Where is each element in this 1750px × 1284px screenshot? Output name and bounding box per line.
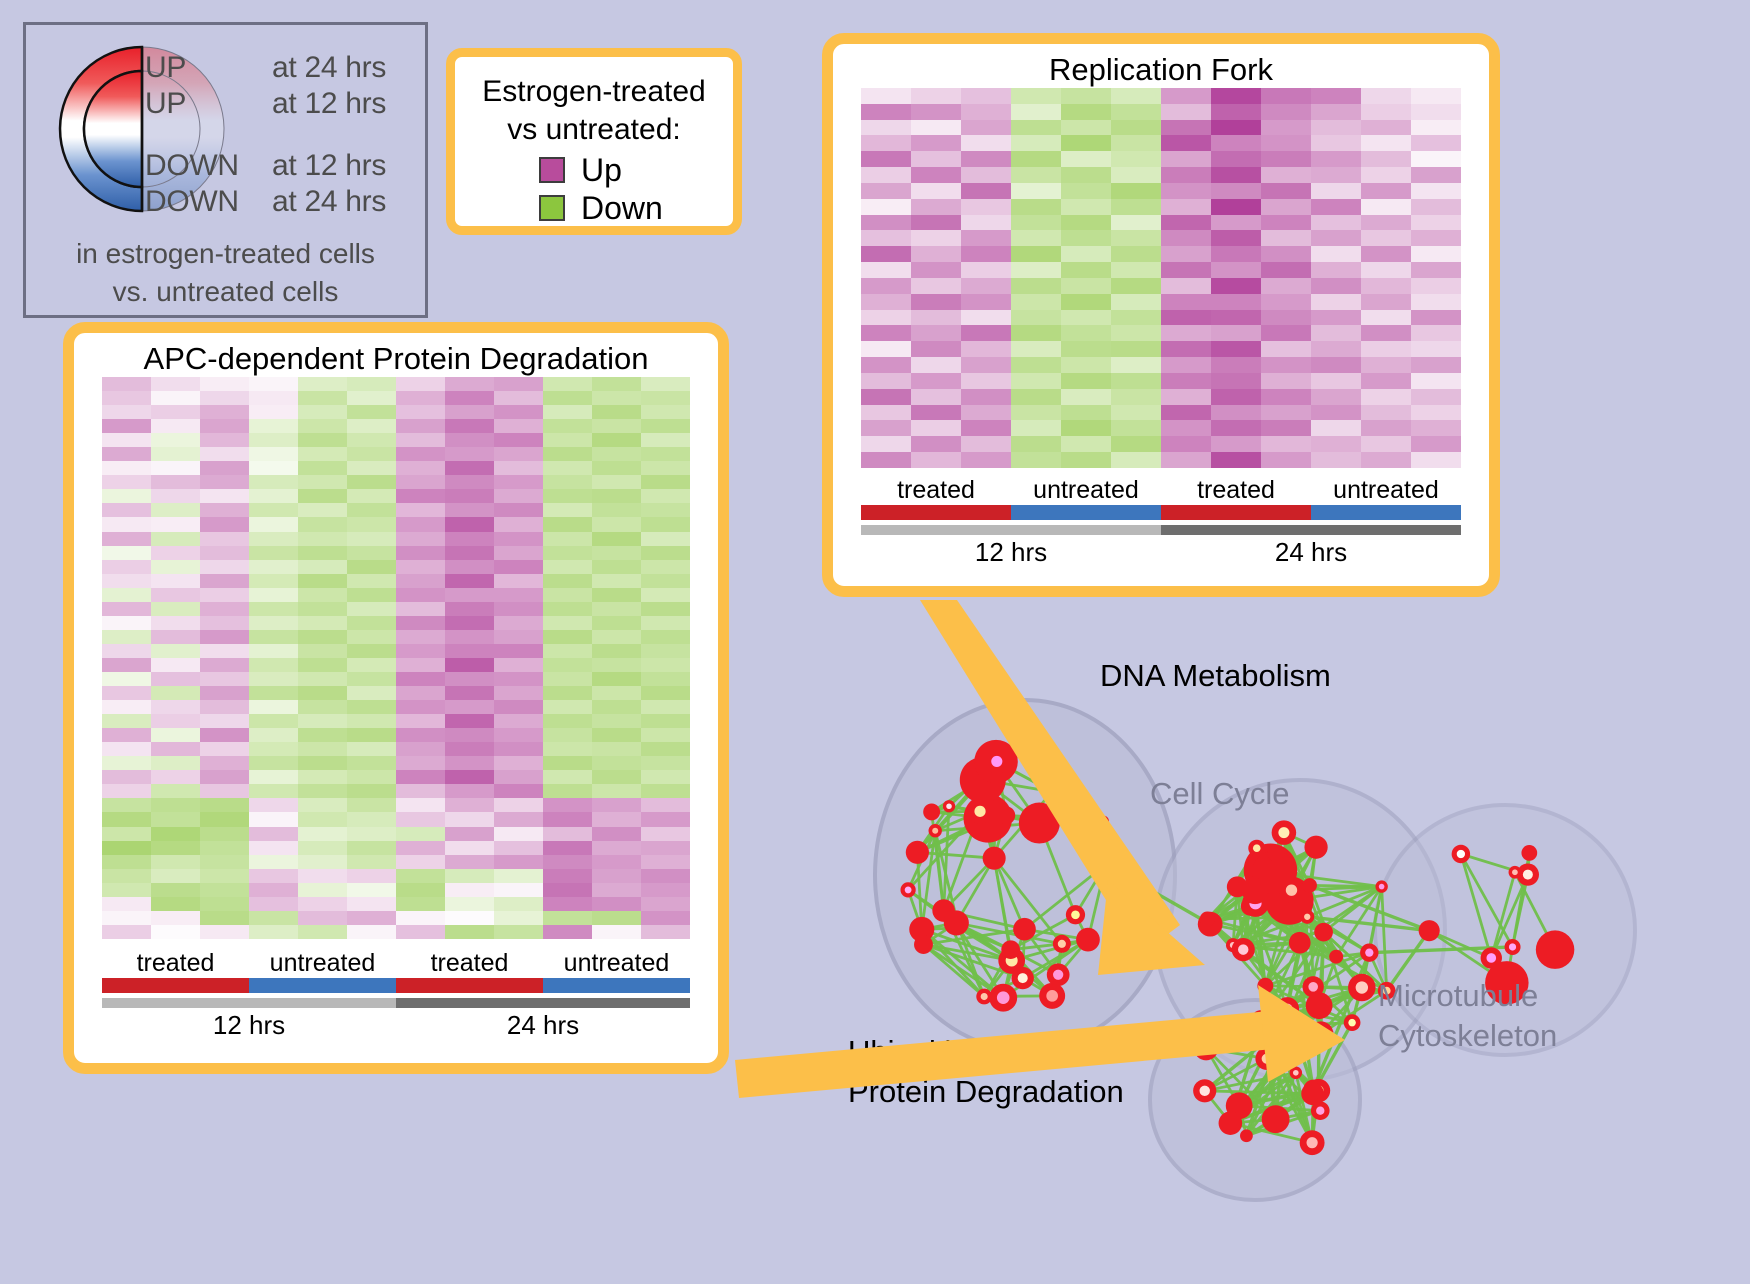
heat-cell: [151, 433, 200, 447]
heat-cell: [151, 812, 200, 826]
heat-cell: [249, 489, 298, 503]
graph-node: [1277, 1051, 1294, 1068]
heat-cell: [543, 855, 592, 869]
heat-cell: [543, 644, 592, 658]
heat-cell: [200, 841, 249, 855]
heat-cell: [1161, 199, 1211, 215]
time-bar-segment: [396, 998, 690, 1008]
heat-cell: [1211, 294, 1261, 310]
heat-cell: [592, 630, 641, 644]
heat-cell: [102, 798, 151, 812]
heat-cell: [347, 630, 396, 644]
heat-cell: [1361, 420, 1411, 436]
heat-cell: [1361, 373, 1411, 389]
heat-cell: [1361, 325, 1411, 341]
heat-cell: [298, 658, 347, 672]
heat-cell: [249, 475, 298, 489]
heat-cell: [494, 532, 543, 546]
heat-cell: [347, 742, 396, 756]
heat-cell: [347, 433, 396, 447]
heat-cell: [543, 827, 592, 841]
heat-cell: [396, 883, 445, 897]
heat-cell: [200, 911, 249, 925]
time-label: 24 hrs: [396, 1010, 690, 1041]
heat-cell: [1311, 135, 1361, 151]
heat-cell: [592, 419, 641, 433]
heat-cell: [445, 616, 494, 630]
heat-cell: [1411, 310, 1461, 326]
heat-cell: [494, 546, 543, 560]
heat-cell: [494, 714, 543, 728]
heat-cell: [1161, 120, 1211, 136]
heat-cell: [102, 812, 151, 826]
heat-cell: [1011, 262, 1061, 278]
heat-cell: [543, 588, 592, 602]
heat-cell: [396, 841, 445, 855]
heat-cell: [543, 742, 592, 756]
heat-cell: [249, 644, 298, 658]
heat-cell: [396, 897, 445, 911]
heat-cell: [298, 588, 347, 602]
legend-title-line1: Estrogen-treated: [461, 73, 727, 111]
heat-cell: [1261, 199, 1311, 215]
graph-node-core: [1293, 1070, 1299, 1076]
heat-cell: [200, 883, 249, 897]
heat-cell: [396, 630, 445, 644]
graph-node-core: [1100, 819, 1106, 825]
heat-cell: [396, 532, 445, 546]
heat-cell: [102, 405, 151, 419]
heat-cell: [249, 841, 298, 855]
heat-cell: [543, 686, 592, 700]
heat-cell: [396, 602, 445, 616]
graph-node-core: [1058, 940, 1066, 948]
heat-cell: [1011, 373, 1061, 389]
heat-cell: [641, 391, 690, 405]
heat-cell: [249, 461, 298, 475]
heat-cell: [543, 897, 592, 911]
heat-cell: [1261, 294, 1311, 310]
heat-cell: [1011, 167, 1061, 183]
heat-cell: [911, 167, 961, 183]
heat-cell: [1111, 230, 1161, 246]
graph-node-core: [1200, 1086, 1210, 1096]
graph-node: [932, 899, 955, 922]
heat-cell: [1411, 167, 1461, 183]
heat-cell: [102, 447, 151, 461]
heat-cell: [911, 452, 961, 468]
heat-cell: [298, 503, 347, 517]
heat-cell: [641, 911, 690, 925]
graph-node-core: [1282, 1004, 1293, 1015]
time-bar-segment: [102, 998, 396, 1008]
graph-node-core: [1512, 869, 1518, 875]
heat-cell: [494, 925, 543, 939]
heat-cell: [592, 728, 641, 742]
heat-cell: [445, 377, 494, 391]
heat-cell: [1411, 420, 1461, 436]
heat-cell: [494, 855, 543, 869]
heat-cell: [200, 560, 249, 574]
heat-cell: [1161, 373, 1211, 389]
graph-node: [1227, 876, 1248, 897]
heat-cell: [1211, 325, 1261, 341]
apc-treatment-bar: [102, 978, 690, 993]
heat-cell: [1311, 183, 1361, 199]
heat-cell: [1361, 389, 1411, 405]
heat-cell: [543, 925, 592, 939]
legend-label-up: Up: [581, 153, 622, 187]
heat-cell: [911, 262, 961, 278]
heat-cell: [592, 869, 641, 883]
heat-cell: [641, 419, 690, 433]
heat-cell: [298, 728, 347, 742]
heat-cell: [861, 420, 911, 436]
heat-cell: [249, 784, 298, 798]
heat-cell: [396, 405, 445, 419]
time-bar-segment: [1161, 525, 1461, 535]
heat-cell: [151, 546, 200, 560]
heat-cell: [1061, 88, 1111, 104]
heat-cell: [961, 167, 1011, 183]
treatment-bar-segment: [543, 978, 690, 993]
heat-cell: [1011, 325, 1061, 341]
heat-cell: [1211, 373, 1261, 389]
heat-cell: [543, 602, 592, 616]
heat-cell: [1261, 325, 1311, 341]
heat-cell: [347, 897, 396, 911]
heat-cell: [102, 728, 151, 742]
heat-cell: [1261, 310, 1311, 326]
heat-cell: [445, 686, 494, 700]
heat-cell: [1361, 120, 1411, 136]
sample-label: treated: [861, 476, 1011, 505]
heat-cell: [1211, 246, 1261, 262]
heat-cell: [102, 897, 151, 911]
heat-cell: [641, 644, 690, 658]
heat-cell: [1111, 325, 1161, 341]
heat-cell: [1211, 357, 1261, 373]
heat-cell: [151, 841, 200, 855]
heat-cell: [641, 855, 690, 869]
heat-cell: [1061, 436, 1111, 452]
heat-cell: [961, 120, 1011, 136]
heat-cell: [102, 475, 151, 489]
heat-cell: [298, 784, 347, 798]
heat-cell: [151, 686, 200, 700]
heat-cell: [1361, 341, 1411, 357]
heat-cell: [1261, 357, 1311, 373]
heat-cell: [1161, 452, 1211, 468]
heat-cell: [494, 419, 543, 433]
heat-cell: [347, 616, 396, 630]
wheel-time-up-24: at 24 hrs: [272, 51, 386, 85]
heat-cell: [1061, 325, 1111, 341]
heat-cell: [347, 827, 396, 841]
heat-cell: [396, 503, 445, 517]
heat-cell: [151, 798, 200, 812]
heat-cell: [445, 700, 494, 714]
heat-cell: [1211, 278, 1261, 294]
heat-cell: [961, 88, 1011, 104]
graph-node: [1329, 950, 1343, 964]
heat-cell: [445, 517, 494, 531]
heat-cell: [494, 616, 543, 630]
heat-cell: [347, 644, 396, 658]
heat-cell: [445, 897, 494, 911]
heat-cell: [543, 574, 592, 588]
graph-node: [923, 803, 940, 820]
heat-cell: [1211, 405, 1261, 421]
heat-cell: [249, 630, 298, 644]
heat-cell: [1161, 230, 1211, 246]
heat-cell: [494, 447, 543, 461]
graph-node-core: [932, 828, 938, 834]
heat-cell: [494, 784, 543, 798]
heat-cell: [298, 475, 347, 489]
heat-cell: [1211, 436, 1261, 452]
heat-cell: [1261, 436, 1311, 452]
heat-cell: [911, 341, 961, 357]
heat-cell: [641, 517, 690, 531]
heat-cell: [1311, 389, 1361, 405]
heat-cell: [249, 447, 298, 461]
heat-cell: [298, 700, 347, 714]
apc-time-labels: 12 hrs 24 hrs: [102, 1010, 690, 1041]
heat-cell: [494, 756, 543, 770]
heat-cell: [1361, 357, 1411, 373]
heat-cell: [861, 341, 911, 357]
heat-cell: [961, 373, 1011, 389]
heat-cell: [592, 686, 641, 700]
heat-cell: [911, 230, 961, 246]
heat-cell: [298, 827, 347, 841]
heat-cell: [102, 714, 151, 728]
heat-cell: [494, 489, 543, 503]
heat-cell: [641, 742, 690, 756]
heat-cell: [641, 714, 690, 728]
heat-cell: [445, 560, 494, 574]
heat-cell: [1311, 120, 1361, 136]
heat-cell: [1011, 246, 1061, 262]
heat-cell: [347, 770, 396, 784]
heat-cell: [151, 419, 200, 433]
heat-cell: [1011, 405, 1061, 421]
heat-cell: [961, 199, 1011, 215]
heat-cell: [396, 728, 445, 742]
graph-node-core: [946, 803, 952, 809]
heat-cell: [641, 672, 690, 686]
heat-cell: [298, 883, 347, 897]
graph-node: [1289, 932, 1311, 954]
heat-cell: [200, 616, 249, 630]
heat-cell: [911, 389, 961, 405]
heat-cell: [347, 391, 396, 405]
heat-cell: [151, 644, 200, 658]
heat-cell: [1011, 452, 1061, 468]
heat-cell: [861, 357, 911, 373]
heat-cell: [151, 588, 200, 602]
apc-time-bar: [102, 998, 690, 1008]
heat-cell: [445, 812, 494, 826]
heat-cell: [445, 405, 494, 419]
heat-cell: [494, 602, 543, 616]
treatment-bar-segment: [861, 505, 1011, 520]
heat-cell: [592, 700, 641, 714]
heat-cell: [543, 503, 592, 517]
heat-cell: [592, 447, 641, 461]
heat-cell: [494, 672, 543, 686]
heat-cell: [592, 827, 641, 841]
graph-node-core: [1379, 884, 1385, 890]
heat-cell: [396, 419, 445, 433]
heat-cell: [592, 784, 641, 798]
heat-cell: [861, 120, 911, 136]
heat-cell: [151, 489, 200, 503]
heat-cell: [200, 756, 249, 770]
heat-cell: [494, 869, 543, 883]
heat-cell: [445, 770, 494, 784]
heat-cell: [911, 325, 961, 341]
heat-cell: [861, 262, 911, 278]
heat-cell: [592, 756, 641, 770]
heat-cell: [1161, 183, 1211, 199]
heat-cell: [249, 714, 298, 728]
heat-cell: [641, 574, 690, 588]
heat-cell: [592, 517, 641, 531]
heat-cell: [961, 436, 1011, 452]
heat-cell: [592, 588, 641, 602]
wheel-time-down-12: at 12 hrs: [272, 149, 386, 183]
heat-cell: [102, 532, 151, 546]
heat-cell: [298, 911, 347, 925]
heat-cell: [494, 644, 543, 658]
heat-cell: [911, 88, 961, 104]
heat-cell: [543, 461, 592, 475]
heat-cell: [396, 869, 445, 883]
heat-cell: [641, 588, 690, 602]
heat-cell: [102, 911, 151, 925]
treatment-bar-segment: [1161, 505, 1311, 520]
heat-cell: [249, 798, 298, 812]
heat-cell: [1111, 135, 1161, 151]
heat-cell: [1161, 294, 1211, 310]
heat-cell: [1011, 215, 1061, 231]
heat-cell: [1411, 246, 1461, 262]
heat-cell: [1011, 183, 1061, 199]
heat-cell: [347, 447, 396, 461]
heat-cell: [249, 546, 298, 560]
heat-cell: [592, 770, 641, 784]
heat-cell: [200, 770, 249, 784]
heat-cell: [1111, 215, 1161, 231]
heat-cell: [641, 405, 690, 419]
heat-cell: [1411, 88, 1461, 104]
heat-cell: [961, 294, 1011, 310]
heat-cell: [641, 728, 690, 742]
heat-cell: [200, 798, 249, 812]
heat-cell: [543, 770, 592, 784]
heat-cell: [1211, 452, 1261, 468]
figure-canvas: UP UP DOWN DOWN at 24 hrs at 12 hrs at 1…: [0, 0, 1750, 1279]
heat-cell: [200, 812, 249, 826]
heat-cell: [1211, 199, 1261, 215]
heat-cell: [1361, 199, 1411, 215]
graph-node-core: [1304, 914, 1310, 920]
heat-cell: [1161, 246, 1211, 262]
heat-cell: [861, 135, 911, 151]
heat-cell: [396, 560, 445, 574]
panel-replication-fork: Replication Fork treated untreated treat…: [822, 33, 1500, 597]
graph-node: [983, 847, 1006, 870]
heat-cell: [1261, 405, 1311, 421]
treatment-bar-segment: [1011, 505, 1161, 520]
heat-cell: [298, 517, 347, 531]
heat-cell: [249, 560, 298, 574]
heat-cell: [200, 503, 249, 517]
heat-cell: [1061, 104, 1111, 120]
heat-cell: [200, 630, 249, 644]
heat-cell: [641, 447, 690, 461]
heat-cell: [102, 616, 151, 630]
heat-cell: [445, 532, 494, 546]
heat-cell: [1261, 88, 1311, 104]
heat-cell: [396, 812, 445, 826]
heat-cell: [249, 503, 298, 517]
heat-cell: [592, 489, 641, 503]
heat-cell: [494, 517, 543, 531]
heat-cell: [1411, 262, 1461, 278]
heat-cell: [298, 419, 347, 433]
heat-cell: [1061, 262, 1111, 278]
heat-cell: [445, 827, 494, 841]
heat-cell: [1411, 341, 1461, 357]
heat-cell: [396, 447, 445, 461]
heat-cell: [151, 742, 200, 756]
graph-node: [1019, 803, 1060, 844]
heat-cell: [641, 798, 690, 812]
heat-cell: [200, 461, 249, 475]
heat-cell: [102, 700, 151, 714]
heat-cell: [861, 294, 911, 310]
heat-cell: [1211, 310, 1261, 326]
heat-cell: [200, 784, 249, 798]
heat-cell: [1161, 135, 1211, 151]
graph-node-core: [1018, 973, 1028, 983]
heat-cell: [861, 452, 911, 468]
graph-node: [1094, 852, 1118, 876]
heat-cell: [151, 560, 200, 574]
heat-cell: [1411, 436, 1461, 452]
heat-cell: [396, 391, 445, 405]
heat-cell: [102, 644, 151, 658]
heat-cell: [1161, 88, 1211, 104]
graph-node-core: [1523, 870, 1533, 880]
colour-wheel-graphic: UP UP DOWN DOWN: [52, 39, 232, 219]
heat-cell: [347, 812, 396, 826]
sample-label: untreated: [1311, 476, 1461, 505]
heat-cell: [347, 588, 396, 602]
heat-cell: [1011, 341, 1061, 357]
heat-cell: [347, 756, 396, 770]
heat-cell: [911, 104, 961, 120]
graph-node-core: [981, 993, 988, 1000]
heat-cell: [1061, 199, 1111, 215]
heat-cell: [1411, 357, 1461, 373]
heat-cell: [445, 489, 494, 503]
heat-cell: [494, 405, 543, 419]
heat-cell: [151, 532, 200, 546]
